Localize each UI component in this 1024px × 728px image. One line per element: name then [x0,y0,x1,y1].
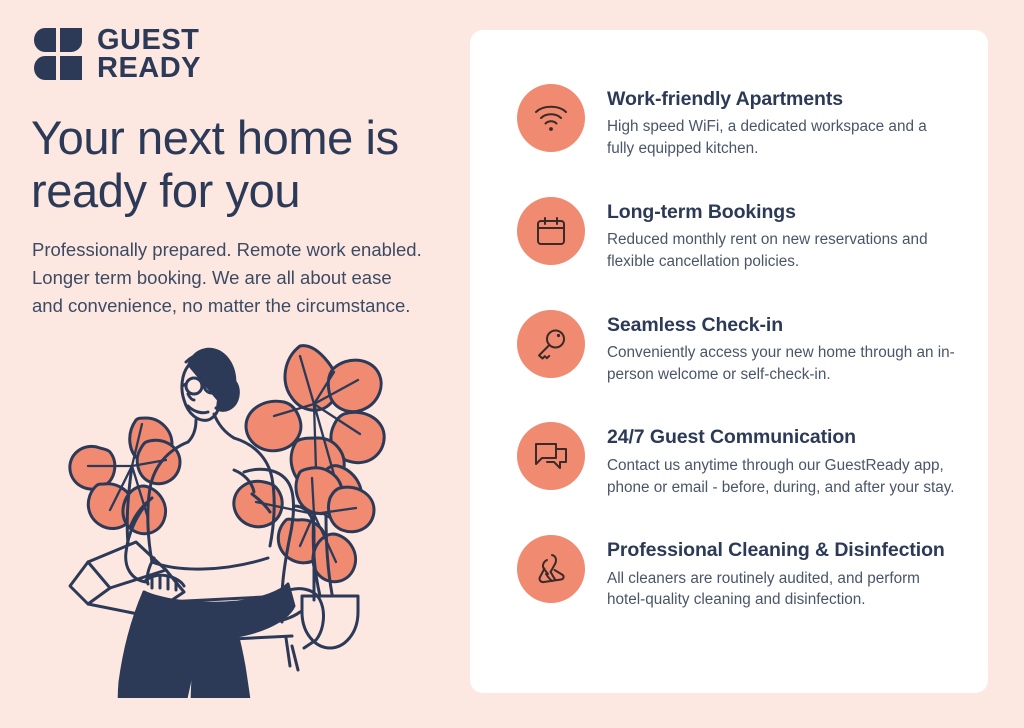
feature-text-block: Professional Cleaning & Disinfection All… [607,533,958,611]
feature-icon-circle [517,84,585,152]
feature-item-work-friendly-apartments[interactable]: Work-friendly Apartments High speed WiFi… [517,82,958,160]
feature-icon-circle [517,422,585,490]
chat-bubbles-icon [534,441,568,471]
brand-logo[interactable]: GUEST READY [33,27,201,83]
feature-item-guest-communication[interactable]: 24/7 Guest Communication Contact us anyt… [517,420,958,498]
feature-item-long-term-bookings[interactable]: Long-term Bookings Reduced monthly rent … [517,195,958,273]
hero-headline: Your next home is ready for you [31,112,451,217]
feature-text-block: Long-term Bookings Reduced monthly rent … [607,195,958,273]
guestready-quadrant-logo-icon [33,27,84,82]
feature-title: 24/7 Guest Communication [607,426,958,449]
hero-illustration [48,330,418,698]
brand-logo-line1: GUEST [97,27,201,55]
hero-subhead: Professionally prepared. Remote work ena… [32,236,422,320]
brand-wordmark: GUEST READY [97,27,201,83]
feature-text-block: Work-friendly Apartments High speed WiFi… [607,82,958,160]
feature-description: All cleaners are routinely audited, and … [607,568,958,611]
feature-title: Professional Cleaning & Disinfection [607,539,958,562]
broom-icon [535,553,567,585]
wifi-icon [534,104,568,132]
feature-description: Contact us anytime through our GuestRead… [607,455,958,498]
feature-description: Conveniently access your new home throug… [607,342,958,385]
feature-icon-circle [517,310,585,378]
left-column: GUEST READY Your next home is ready for … [0,0,460,728]
feature-icon-circle [517,197,585,265]
feature-text-block: 24/7 Guest Communication Contact us anyt… [607,420,958,498]
feature-description: High speed WiFi, a dedicated workspace a… [607,116,958,159]
feature-title: Long-term Bookings [607,201,958,224]
feature-title: Work-friendly Apartments [607,88,958,111]
features-list: Work-friendly Apartments High speed WiFi… [470,30,988,611]
feature-icon-circle [517,535,585,603]
calendar-icon [535,215,567,247]
feature-item-professional-cleaning[interactable]: Professional Cleaning & Disinfection All… [517,533,958,611]
features-card: Work-friendly Apartments High speed WiFi… [470,30,988,693]
feature-item-seamless-check-in[interactable]: Seamless Check-in Conveniently access yo… [517,308,958,386]
key-icon [535,328,567,360]
feature-description: Reduced monthly rent on new reservations… [607,229,958,272]
brand-logo-line2: READY [97,55,201,83]
feature-title: Seamless Check-in [607,314,958,337]
feature-text-block: Seamless Check-in Conveniently access yo… [607,308,958,386]
promo-page: GUEST READY Your next home is ready for … [0,0,1024,728]
